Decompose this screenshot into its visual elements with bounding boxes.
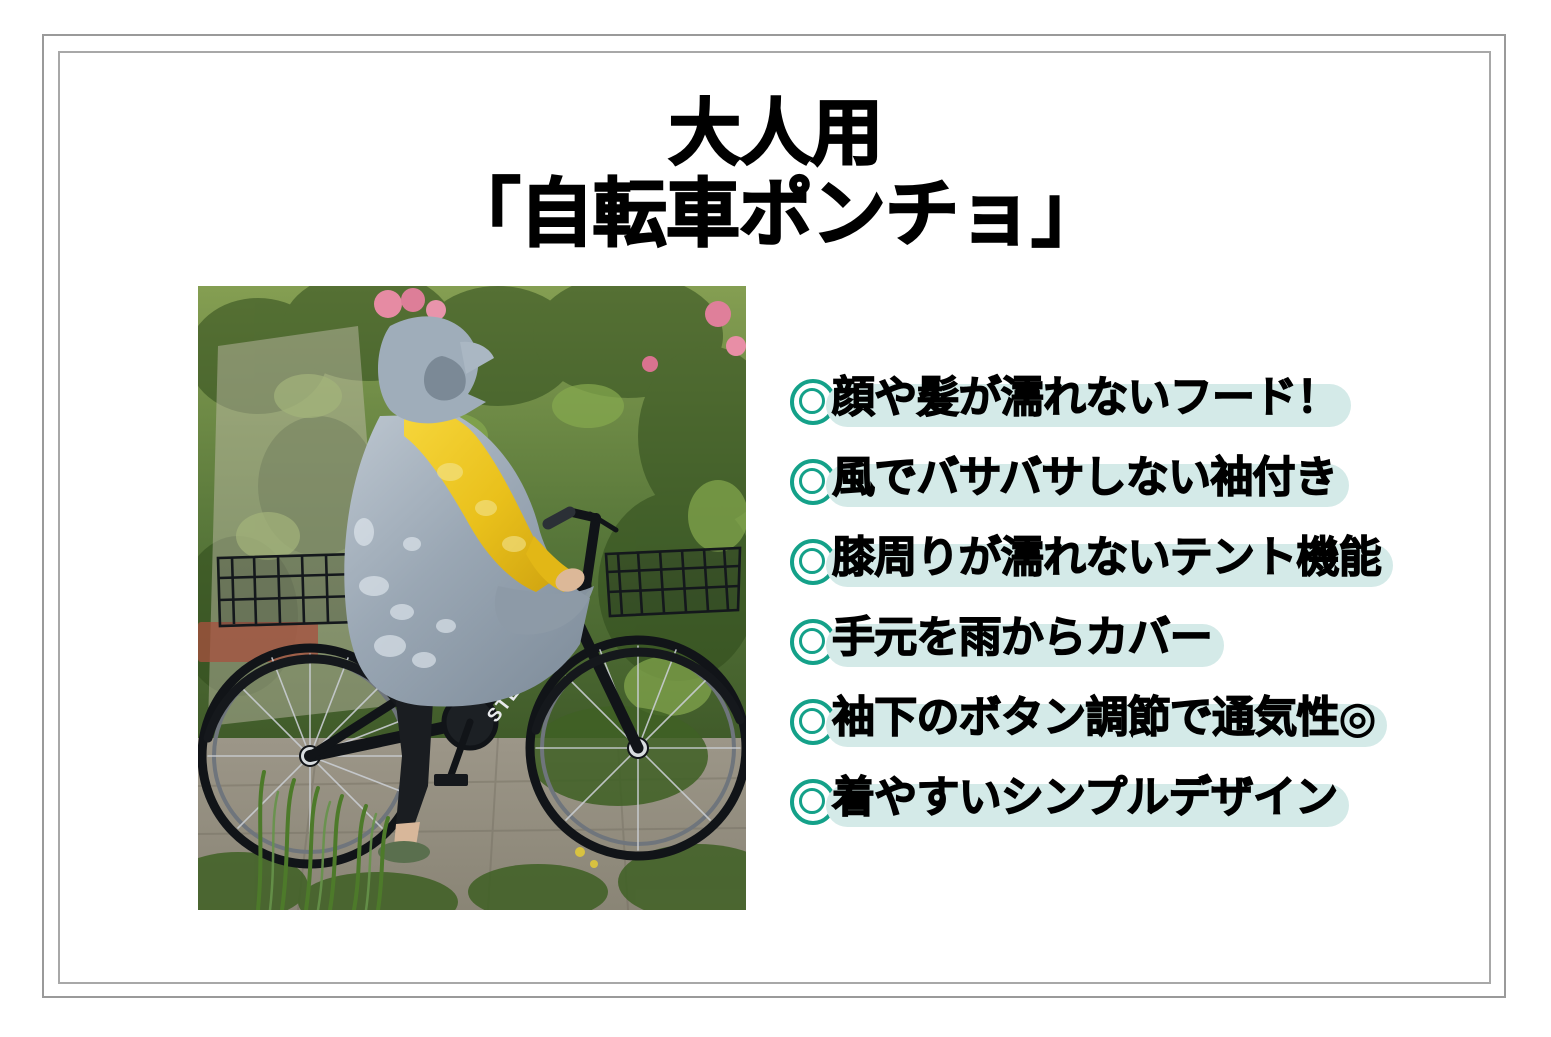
double-circle-icon [790, 779, 828, 817]
feature-text-wrap: 顔や髪が濡れないフード！ [832, 377, 1339, 420]
double-circle-icon [790, 539, 828, 577]
feature-text-wrap: 風でバサバサしない袖付き [832, 457, 1337, 500]
double-circle-icon [790, 459, 828, 497]
feature-text-wrap: 手元を雨からカバー [832, 617, 1212, 660]
feature-item-6: 着やすいシンプルデザイン [790, 758, 1490, 838]
product-photo-image: STEPCRUZ [198, 286, 746, 910]
feature-text-wrap: 膝周りが濡れないテント機能 [832, 537, 1381, 580]
title-line-1: 大人用 [0, 98, 1551, 169]
feature-item-4: 手元を雨からカバー [790, 598, 1490, 678]
feature-item-5: 袖下のボタン調節で通気性◎ [790, 678, 1490, 758]
feature-label: 顔や髪が濡れないフード！ [832, 377, 1339, 420]
feature-label: 膝周りが濡れないテント機能 [832, 537, 1381, 580]
feature-text-wrap: 袖下のボタン調節で通気性◎ [832, 697, 1375, 740]
title-line-2: 「自転車ポンチョ」 [0, 178, 1551, 251]
feature-item-3: 膝周りが濡れないテント機能 [790, 518, 1490, 598]
feature-item-1: 顔や髪が濡れないフード！ [790, 358, 1490, 438]
feature-label: 袖下のボタン調節で通気性◎ [832, 697, 1375, 740]
feature-item-2: 風でバサバサしない袖付き [790, 438, 1490, 518]
page-title: 大人用 「自転車ポンチョ」 [0, 98, 1551, 250]
double-circle-icon [790, 619, 828, 657]
double-circle-icon [790, 699, 828, 737]
feature-text-wrap: 着やすいシンプルデザイン [832, 777, 1337, 820]
feature-label: 着やすいシンプルデザイン [832, 777, 1337, 820]
feature-label: 手元を雨からカバー [832, 617, 1212, 660]
feature-label: 風でバサバサしない袖付き [832, 457, 1337, 500]
poster-canvas: 大人用 「自転車ポンチョ」 [0, 0, 1551, 1037]
product-photo: STEPCRUZ [198, 286, 746, 910]
double-circle-icon [790, 379, 828, 417]
feature-list: 顔や髪が濡れないフード！ 風でバサバサしない袖付き 膝周りが濡れないテント機能 … [790, 358, 1490, 838]
